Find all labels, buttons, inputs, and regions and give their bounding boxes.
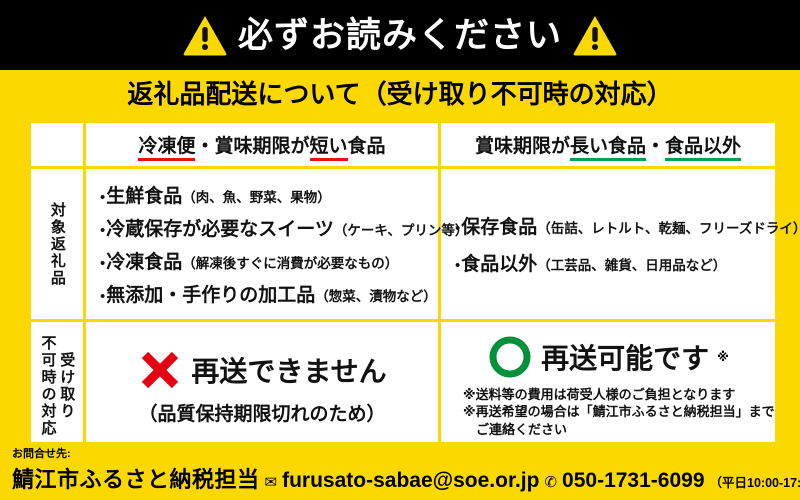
column-header-short-part-2: ・賞味期限が (195, 136, 309, 157)
response-note-continued: ご連絡ください (463, 421, 767, 439)
list-item-main: 食品以外 (461, 249, 537, 276)
bullet-icon: • (455, 258, 460, 273)
footer-contact: お問合せ先: 鯖江市ふるさと納税担当 ✉ furusato-sabae@soe.… (0, 442, 800, 500)
list-item-main: 保存食品 (461, 212, 537, 239)
response-note: ※再送希望の場合は「鯖江市ふるさと納税担当」まで (463, 403, 767, 421)
warning-triangle-icon (572, 14, 618, 56)
list-item: • 保存食品 （缶詰、レトルト、乾麺、フリーズドライ） (455, 212, 769, 239)
row-label-target-items: 対象返礼品 (30, 168, 85, 321)
column-header-long-part-4: 食品以外 (665, 136, 741, 161)
bullet-icon: • (455, 221, 460, 236)
table-corner-cell (30, 122, 85, 168)
list-item: • 冷蔵保存が必要なスイーツ （ケーキ、プリン等） (100, 214, 432, 241)
header-banner: 必ずお読みください (0, 0, 800, 70)
list-item-main: 冷蔵保存が必要なスイーツ (106, 214, 334, 241)
list-item-note: （工芸品、雑貨、日用品など） (537, 254, 726, 274)
footer-label: お問合せ先: (12, 445, 790, 461)
column-header-long-part-3: ・ (646, 136, 665, 157)
list-item-note: （肉、魚、野菜、果物） (182, 186, 331, 206)
footer-phone[interactable]: 050-1731-6099 (562, 469, 704, 493)
list-item-note: （解凍後すぐに消費が必要なもの） (182, 252, 398, 272)
bullet-icon: • (100, 256, 105, 271)
warning-triangle-icon (182, 14, 228, 56)
telephone-icon: ✆ (544, 473, 557, 491)
column-header-long-part-1: 賞味期限が (475, 136, 570, 157)
subtitle-text: 返礼品配送について（受け取り不可時の対応） (127, 74, 672, 111)
list-item: • 冷凍食品 （解凍後すぐに消費が必要なもの） (100, 247, 432, 274)
list-item: • 食品以外 （工芸品、雑貨、日用品など） (455, 249, 769, 276)
subtitle-banner: 返礼品配送について（受け取り不可時の対応） (0, 70, 800, 114)
list-item-main: 生鮮食品 (106, 181, 182, 208)
list-item-main: 冷凍食品 (106, 247, 182, 274)
page-title: 必ずお読みください (238, 18, 562, 53)
footer-hours: （平日10:00-17:00対応） (710, 472, 800, 491)
footer-department: 鯖江市ふるさと納税担当 (12, 462, 260, 494)
footer-email[interactable]: furusato-sabae@soe.or.jp (282, 469, 539, 493)
list-item-note: （惣菜、漬物など） (315, 285, 437, 305)
table-row-target-items: 対象返礼品 • 生鮮食品 （肉、魚、野菜、果物） • 冷蔵保存が必要なスイーツ … (30, 168, 777, 321)
response-note: ※送料等の費用は荷受人様のご負担となります (463, 386, 767, 404)
row-label-target-items-text: 対象返礼品 (48, 202, 66, 287)
bullet-icon: • (100, 223, 105, 238)
list-item-note: （缶詰、レトルト、乾麺、フリーズドライ） (537, 217, 800, 237)
list-item-main: 無添加・手作りの加工品 (106, 280, 315, 307)
cell-long-items: • 保存食品 （缶詰、レトルト、乾麺、フリーズドライ） • 食品以外 （工芸品、… (440, 168, 777, 321)
table-row-response: 受け取り 不可時の対応 再送できません （品質保持期限切れのため） (30, 321, 777, 452)
cell-long-response: 再送可能です※ ※送料等の費用は荷受人様のご負担となります ※再送希望の場合は「… (440, 321, 777, 452)
circle-mark-icon (487, 334, 533, 380)
row-label-response-text-1: 受け取り (58, 335, 76, 437)
column-header-short-part-3: 短い (310, 136, 348, 161)
response-main-text: 再送できません (191, 350, 386, 390)
info-table: 冷凍便・賞味期限が短い食品 賞味期限が長い食品・食品以外 対象返礼品 • (25, 117, 775, 437)
list-item: • 生鮮食品 （肉、魚、野菜、果物） (100, 181, 432, 208)
envelope-icon: ✉ (265, 473, 278, 491)
response-main-text: 再送可能です (541, 337, 709, 377)
response-asterisk: ※ (717, 350, 729, 364)
bullet-icon: • (100, 190, 105, 205)
row-label-response: 受け取り 不可時の対応 (30, 321, 85, 452)
bullet-icon: • (100, 289, 105, 304)
cross-mark-icon (137, 347, 183, 393)
row-label-response-text-2: 不可時の対応 (39, 335, 57, 437)
column-header-short: 冷凍便・賞味期限が短い食品 (85, 122, 440, 168)
cell-short-items: • 生鮮食品 （肉、魚、野菜、果物） • 冷蔵保存が必要なスイーツ （ケーキ、プ… (85, 168, 440, 321)
column-header-short-part-4: 食品 (348, 136, 386, 157)
column-header-long: 賞味期限が長い食品・食品以外 (440, 122, 777, 168)
response-sub-text: （品質保持期限切れのため） (94, 399, 430, 426)
list-item: • 無添加・手作りの加工品 （惣菜、漬物など） (100, 280, 432, 307)
cell-short-response: 再送できません （品質保持期限切れのため） (85, 321, 440, 452)
table-header-row: 冷凍便・賞味期限が短い食品 賞味期限が長い食品・食品以外 (30, 122, 777, 168)
column-header-short-part-1: 冷凍便 (138, 136, 195, 161)
list-item-note: （ケーキ、プリン等） (334, 219, 468, 239)
column-header-long-part-2: 長い食品 (570, 136, 646, 161)
